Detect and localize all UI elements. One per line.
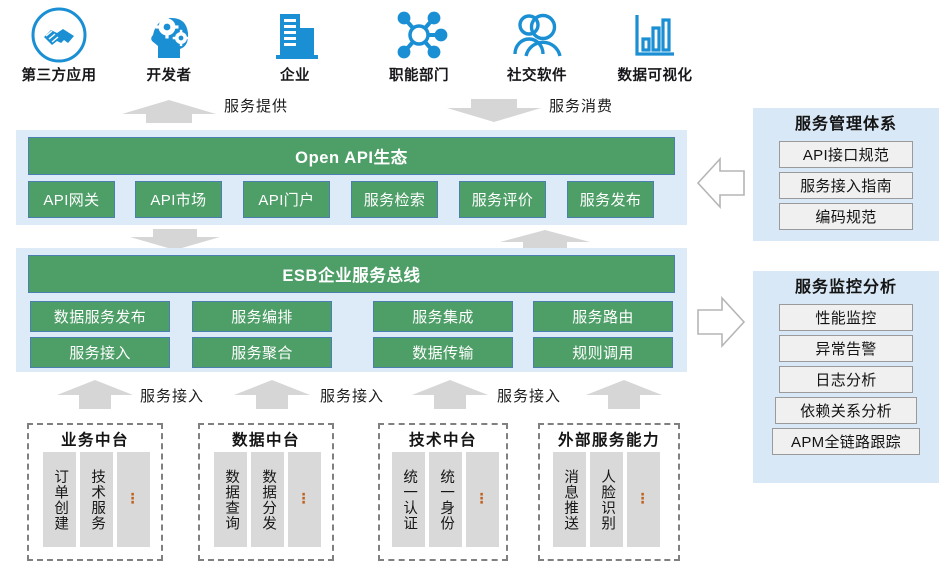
monitoring-item-alerting[interactable]: 异常告警: [779, 335, 913, 362]
consumer-item-enterprise[interactable]: 企业: [236, 4, 354, 84]
consumer-item-developer[interactable]: 开发者: [110, 4, 228, 84]
buildings-icon: [236, 4, 354, 66]
consumer-item-label: 第三方应用: [0, 69, 118, 84]
platform-cell-more[interactable]: ⋮: [288, 452, 321, 547]
governance-item-api-spec[interactable]: API接口规范: [779, 141, 913, 168]
monitoring-item-apm-tracing[interactable]: APM全链路跟踪: [772, 428, 920, 455]
consumer-item-social-software[interactable]: 社交软件: [478, 4, 596, 84]
platform-cell-label: 消息推送: [562, 469, 577, 531]
platform-cell-label: 订单创建: [52, 469, 67, 531]
monitoring-item-log-analysis[interactable]: 日志分析: [779, 366, 913, 393]
openapi-item-service-rating[interactable]: 服务评价: [459, 181, 546, 218]
service-access-label-2: 服务接入: [320, 389, 384, 404]
platform-group-title: 业务中台: [29, 433, 161, 449]
esb-item-service-orchestration[interactable]: 服务编排: [192, 301, 332, 332]
platform-cell-label: 统一认证: [401, 469, 416, 531]
service-access-label-3: 服务接入: [497, 389, 561, 404]
monitoring-right-arrow-icon: [696, 286, 746, 358]
service-provide-arrow-up: [122, 98, 216, 124]
esb-item-service-integration[interactable]: 服务集成: [373, 301, 513, 332]
esb-item-data-service-publish[interactable]: 数据服务发布: [30, 301, 170, 332]
openapi-item-api-portal[interactable]: API门户: [243, 181, 330, 218]
platform-group-title: 技术中台: [380, 433, 506, 449]
platform-cell-unified-auth[interactable]: 统一认证: [392, 452, 425, 547]
users-icon: [478, 4, 596, 66]
openapi-item-service-search[interactable]: 服务检索: [351, 181, 438, 218]
consumer-item-third-party-app[interactable]: 第三方应用: [0, 4, 118, 84]
openapi-title-band: Open API生态: [28, 137, 675, 175]
monitoring-item-dependency-analysis[interactable]: 依赖关系分析: [775, 397, 917, 424]
platform-cell-message-push[interactable]: 消息推送: [553, 452, 586, 547]
platform-group-title: 外部服务能力: [540, 433, 678, 449]
consumer-item-label: 职能部门: [360, 69, 478, 84]
service-access-label-1: 服务接入: [140, 389, 204, 404]
consumer-item-label: 企业: [236, 69, 354, 84]
platform-group-title: 数据中台: [200, 433, 332, 449]
governance-item-coding-spec[interactable]: 编码规范: [779, 203, 913, 230]
monitoring-title: 服务监控分析: [753, 280, 939, 296]
head-gears-icon: [110, 4, 228, 66]
platform-cell-more[interactable]: ⋮: [117, 452, 150, 547]
consumer-item-functional-dept[interactable]: 职能部门: [360, 4, 478, 84]
platform-cell-more[interactable]: ⋮: [466, 452, 499, 547]
service-access-arrow-3: [412, 378, 488, 410]
platform-cell-label: 统一身份: [438, 469, 453, 531]
bar-chart-icon: [596, 4, 714, 66]
platform-cell-order-create[interactable]: 订单创建: [43, 452, 76, 547]
openapi-item-api-gateway[interactable]: API网关: [28, 181, 115, 218]
platform-cell-data-distribute[interactable]: 数据分发: [251, 452, 284, 547]
esb-title-band: ESB企业服务总线: [28, 255, 675, 293]
service-access-arrow-4: [586, 378, 662, 410]
service-provide-label: 服务提供: [224, 99, 288, 114]
platform-cell-label: 数据分发: [260, 469, 275, 531]
service-consume-label: 服务消费: [549, 99, 613, 114]
network-nodes-icon: [360, 4, 478, 66]
consumer-icon-row: 第三方应用: [0, 4, 712, 96]
monitoring-item-performance[interactable]: 性能监控: [779, 304, 913, 331]
esb-item-data-transfer[interactable]: 数据传输: [373, 337, 513, 368]
platform-cell-more[interactable]: ⋮: [627, 452, 660, 547]
openapi-item-api-market[interactable]: API市场: [135, 181, 222, 218]
platform-cell-ellipsis: ⋮: [636, 491, 652, 509]
platform-cell-label: 数据查询: [223, 469, 238, 531]
platform-cell-ellipsis: ⋮: [475, 491, 491, 509]
consumer-item-label: 数据可视化: [596, 69, 714, 84]
governance-left-arrow-icon: [696, 147, 746, 219]
platform-cell-ellipsis: ⋮: [126, 491, 142, 509]
platform-cell-face-recognition[interactable]: 人脸识别: [590, 452, 623, 547]
esb-item-rule-invocation[interactable]: 规则调用: [533, 337, 673, 368]
esb-item-service-aggregation[interactable]: 服务聚合: [192, 337, 332, 368]
governance-item-access-guide[interactable]: 服务接入指南: [779, 172, 913, 199]
service-access-arrow-2: [234, 378, 310, 410]
service-consume-arrow-down: [447, 98, 541, 124]
service-access-arrow-1: [57, 378, 133, 410]
handshake-icon: [0, 4, 118, 66]
esb-item-service-access[interactable]: 服务接入: [30, 337, 170, 368]
consumer-item-label: 社交软件: [478, 69, 596, 84]
platform-cell-label: 技术服务: [89, 469, 104, 531]
consumer-item-data-visualization[interactable]: 数据可视化: [596, 4, 714, 84]
platform-cell-label: 人脸识别: [599, 469, 614, 531]
governance-title: 服务管理体系: [753, 117, 939, 133]
openapi-item-service-publish[interactable]: 服务发布: [567, 181, 654, 218]
platform-cell-data-query[interactable]: 数据查询: [214, 452, 247, 547]
platform-cell-ellipsis: ⋮: [297, 491, 313, 509]
platform-cell-tech-service[interactable]: 技术服务: [80, 452, 113, 547]
platform-cell-unified-identity[interactable]: 统一身份: [429, 452, 462, 547]
consumer-item-label: 开发者: [110, 69, 228, 84]
architecture-diagram: 第三方应用: [0, 0, 943, 567]
esb-item-service-routing[interactable]: 服务路由: [533, 301, 673, 332]
